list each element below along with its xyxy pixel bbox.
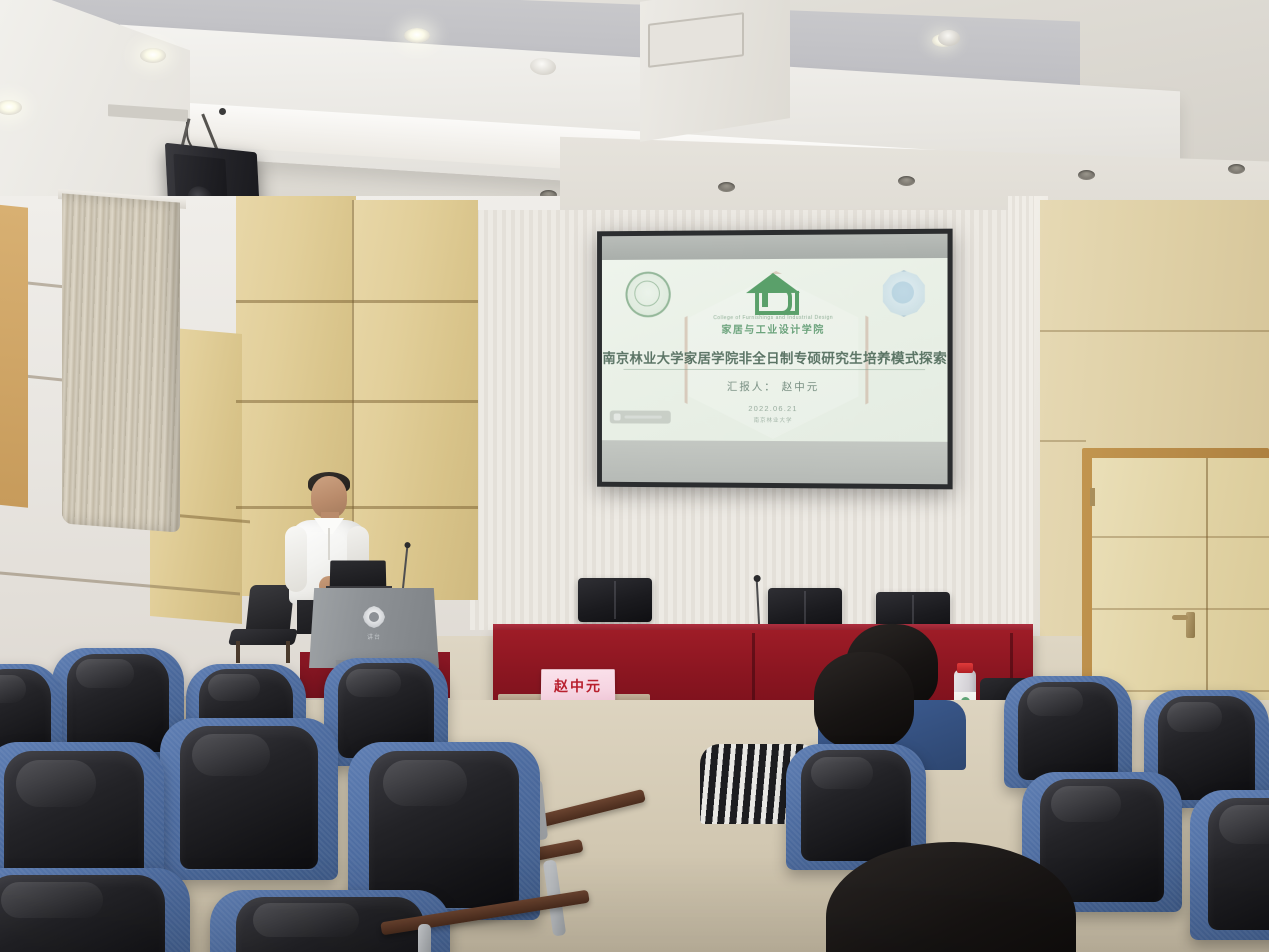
- chair-leg: [286, 641, 290, 663]
- slide-date: 2022.06.21: [748, 404, 797, 413]
- floor-shading: [0, 856, 1269, 952]
- lecture-hall-photo: College of Furnishings and Industrial De…: [0, 0, 1269, 952]
- ceiling-spot-icon: [718, 182, 735, 192]
- door-panel-line: [1092, 608, 1269, 610]
- presentation-slide: College of Furnishings and Industrial De…: [602, 258, 948, 442]
- bottle-cap: [957, 663, 973, 673]
- seat-highlight: [1219, 805, 1269, 844]
- wall-groove: [1040, 330, 1269, 332]
- slide-title: 南京林业大学家居学院非全日制专硕研究生培养模式探索: [602, 347, 947, 367]
- wall-groove: [236, 400, 478, 403]
- smoke-detector-icon: [938, 30, 960, 46]
- seat-highlight: [383, 760, 467, 806]
- seat-highlight: [1167, 702, 1222, 733]
- chair-leg: [236, 641, 240, 663]
- podium: 讲台: [309, 588, 439, 668]
- ceiling-spot-icon: [898, 176, 915, 186]
- logo-letter-d: [776, 287, 792, 315]
- ceiling-spot-icon: [1228, 164, 1245, 174]
- seat-highlight: [76, 659, 134, 688]
- presenter-arm-left: [285, 526, 307, 592]
- fid-house-logo-icon: [746, 273, 800, 313]
- logo-letter-f: [762, 287, 768, 307]
- college-badge-icon: [881, 270, 928, 317]
- university-seal-icon: [625, 272, 670, 318]
- presentation-toolbar[interactable]: [610, 411, 671, 424]
- chair-back-seam: [614, 581, 616, 619]
- projection-surface: College of Furnishings and Industrial De…: [602, 234, 948, 485]
- seat-highlight: [16, 760, 95, 807]
- ceiling-spot-icon: [1078, 170, 1095, 180]
- wall-groove: [1040, 440, 1086, 442]
- screen-top-strip: [602, 234, 948, 260]
- door-panel-line: [1092, 536, 1269, 538]
- podium-label: 讲台: [367, 632, 381, 641]
- seat-highlight: [208, 674, 261, 701]
- slide-presenter-line: 汇报人： 赵中元: [727, 379, 819, 394]
- seat-highlight: [811, 757, 873, 790]
- audience-hair: [814, 652, 914, 748]
- door-hinge-icon: [1090, 488, 1095, 506]
- presenter-placket: [328, 528, 330, 560]
- slide-divider: [624, 369, 926, 370]
- wall-groove: [236, 300, 478, 303]
- seat-highlight: [0, 675, 26, 703]
- stage-chair[interactable]: [578, 578, 652, 630]
- door-handle-icon[interactable]: [1186, 612, 1195, 638]
- speaker-mount-knob: [219, 108, 226, 115]
- projection-screen[interactable]: College of Furnishings and Industrial De…: [597, 229, 953, 490]
- university-emblem-icon: [363, 606, 385, 628]
- screen-bottom-strip: [602, 440, 948, 484]
- nameplate-text: 赵中元: [554, 676, 602, 696]
- window-curtain: [62, 193, 180, 532]
- seat-highlight: [346, 669, 401, 697]
- slide-org-footer: 南京林业大学: [754, 416, 793, 424]
- wooden-wall-frame: [0, 204, 28, 508]
- ceiling-downlight: [404, 28, 430, 43]
- logo-chinese-name: 家居与工业设计学院: [721, 321, 824, 336]
- seat-highlight: [1027, 687, 1083, 716]
- seat-highlight: [192, 734, 270, 776]
- ceiling-downlight: [140, 48, 166, 63]
- seat-highlight: [1051, 786, 1121, 822]
